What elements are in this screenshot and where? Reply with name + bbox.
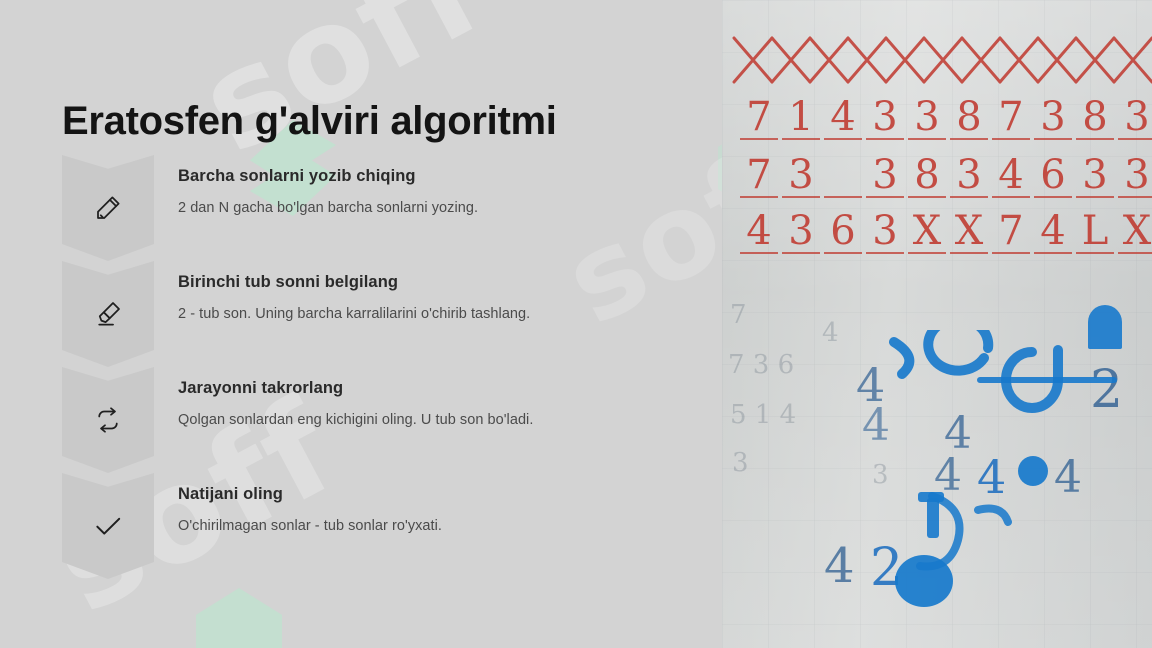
step-item[interactable]: Natijani oling O'chirilmagan sonlar - tu… xyxy=(62,473,702,579)
step-title: Natijani oling xyxy=(178,485,698,504)
slide-root: soff soff soff soff Eratosfen g'alviri a… xyxy=(0,0,1152,648)
step-description: O'chirilmagan sonlar - tub sonlar ro'yxa… xyxy=(178,518,698,534)
step-description: 2 dan N gacha bo'lgan barcha sonlarni yo… xyxy=(178,200,698,216)
step-title: Barcha sonlarni yozib chiqing xyxy=(178,167,698,186)
blue-digit: 4 xyxy=(824,538,855,594)
step-text: Birinchi tub sonni belgilang 2 - tub son… xyxy=(178,273,698,322)
highlighter-icon xyxy=(93,299,123,329)
repeat-loop-icon xyxy=(93,405,123,435)
step-item[interactable]: Barcha sonlarni yozib chiqing 2 dan N ga… xyxy=(62,155,702,261)
step-title: Birinchi tub sonni belgilang xyxy=(178,273,698,292)
step-description: Qolgan sonlardan eng kichigini oling. U … xyxy=(178,412,698,428)
step-text: Barcha sonlarni yozib chiqing 2 dan N ga… xyxy=(178,167,698,216)
step-item[interactable]: Jarayonni takrorlang Qolgan sonlardan en… xyxy=(62,367,702,473)
blue-loop-glyph xyxy=(898,492,1028,602)
step-title: Jarayonni takrorlang xyxy=(178,379,698,398)
step-text: Jarayonni takrorlang Qolgan sonlardan en… xyxy=(178,379,698,428)
pencil-icon xyxy=(93,193,123,223)
content-column: Eratosfen g'alviri algoritmi Barcha sonl… xyxy=(0,0,722,648)
check-icon xyxy=(92,510,124,542)
step-icon-badge xyxy=(62,155,154,261)
blue-ink-layer: 4 4 4 4 4 4 2 4 2 xyxy=(722,0,1152,648)
step-description: 2 - tub son. Uning barcha karralilarini … xyxy=(178,306,698,322)
page-title: Eratosfen g'alviri algoritmi xyxy=(62,99,557,144)
step-item[interactable]: Birinchi tub sonni belgilang 2 - tub son… xyxy=(62,261,702,367)
step-icon-badge xyxy=(62,473,154,579)
step-icon-badge xyxy=(62,367,154,473)
step-icon-badge xyxy=(62,261,154,367)
step-text: Natijani oling O'chirilmagan sonlar - tu… xyxy=(178,485,698,534)
sieve-illustration-panel: 7 1 4 3 3 8 7 3 8 3 7 3 3 8 3 4 6 3 3 4 … xyxy=(722,0,1152,648)
blue-circle-glyphs xyxy=(882,330,1132,470)
steps-list: Barcha sonlarni yozib chiqing 2 dan N ga… xyxy=(62,155,702,579)
